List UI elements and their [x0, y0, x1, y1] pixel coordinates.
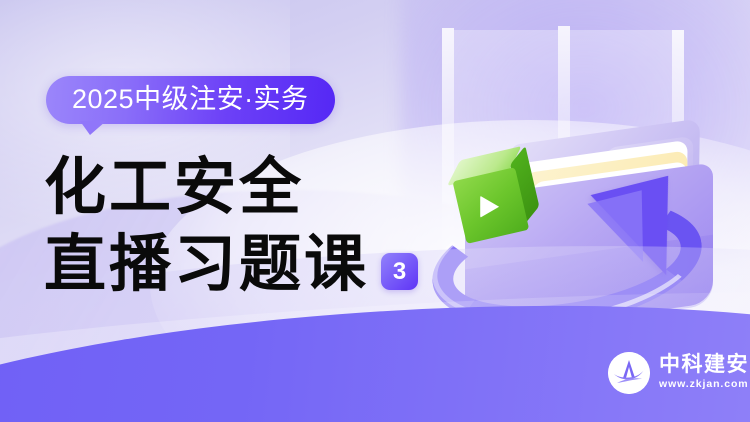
title-line-2: 直播习题课 — [44, 229, 369, 300]
badge-pill: 2025中级注安·实务 — [46, 76, 335, 124]
badge-label: 2025中级注安·实务 — [72, 84, 309, 114]
course-illustration — [405, 20, 750, 350]
title-line-2-wrap: 直播习题课 3 — [44, 229, 418, 300]
title-line-1-wrap: 化工安全 — [44, 152, 418, 223]
brand-logo[interactable]: 中科建安 www.zkjan.com — [608, 352, 749, 394]
logo-website: www.zkjan.com — [659, 376, 749, 393]
logo-company-name: 中科建安 — [659, 353, 749, 376]
course-category-badge: 2025中级注安·实务 — [46, 76, 335, 124]
title-line-1: 化工安全 — [44, 150, 304, 223]
logo-text-block: 中科建安 www.zkjan.com — [659, 353, 749, 393]
zkjan-circle-logo-icon — [608, 352, 650, 394]
badge-tail — [80, 121, 106, 135]
course-banner: 2025中级注安·实务 化工安全 直播习题课 3 中科建安 www.zkjan.… — [0, 0, 750, 422]
page-title: 化工安全 直播习题课 3 — [44, 152, 418, 299]
episode-number-badge: 3 — [381, 253, 418, 290]
play-triangle-icon — [480, 196, 499, 218]
